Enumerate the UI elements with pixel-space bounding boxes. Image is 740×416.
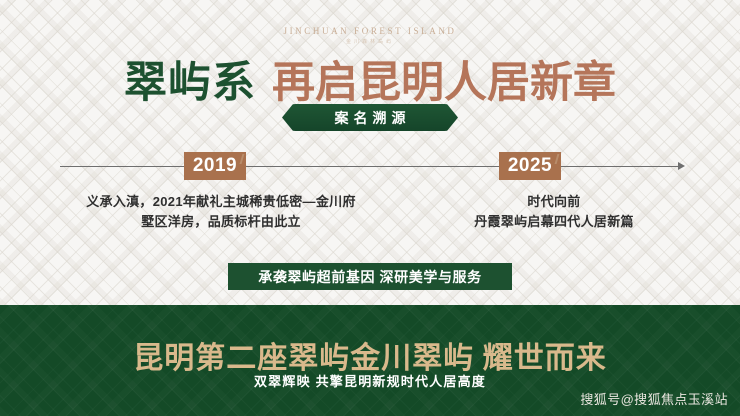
caption-line: 时代向前 xyxy=(404,192,704,212)
timeline-year-marker-2025: 2025 xyxy=(499,152,561,180)
highlight-bar-label: 承袭翠屿超前基因 深研美学与服务 xyxy=(258,267,482,287)
year-tick-icon xyxy=(240,154,245,164)
brand-logo: JINCHUAN FOREST ISLAND 金川森林岛屿 xyxy=(0,26,740,45)
brand-name-english: JINCHUAN FOREST ISLAND xyxy=(0,26,740,36)
section-ribbon: 案名溯源 xyxy=(282,104,458,131)
year-tick-icon xyxy=(555,154,560,164)
title-tagline: 再启昆明人居新章 xyxy=(272,60,616,107)
timeline-line-left xyxy=(60,166,184,167)
timeline-year-label: 2025 xyxy=(508,155,552,177)
timeline-year-marker-2019: 2019 xyxy=(184,152,246,180)
timeline-year-label: 2019 xyxy=(193,155,237,177)
timeline-caption-2019: 义承入滇，2021年献礼主城稀贵低密—金川府 墅区洋房，品质标杆由此立 xyxy=(36,192,406,232)
timeline-caption-2025: 时代向前 丹霞翠屿启幕四代人居新篇 xyxy=(404,192,704,232)
highlight-bar: 承袭翠屿超前基因 深研美学与服务 xyxy=(228,263,512,290)
timeline-line-middle xyxy=(246,166,501,167)
timeline: 2019 2025 xyxy=(0,152,740,182)
footer-subheadline: 双翠辉映 共擎昆明新规时代人居高度 xyxy=(0,371,740,390)
timeline-line-right xyxy=(561,166,681,167)
page-title: 翠屿系再启昆明人居新章 xyxy=(0,48,740,110)
poster-canvas: JINCHUAN FOREST ISLAND 金川森林岛屿 翠屿系再启昆明人居新… xyxy=(0,0,740,416)
brand-name-chinese: 金川森林岛屿 xyxy=(0,38,740,45)
footer-panel: 昆明第二座翠屿金川翠屿 耀世而来 双翠辉映 共擎昆明新规时代人居高度 搜狐号@搜… xyxy=(0,305,740,416)
section-ribbon-label: 案名溯源 xyxy=(330,108,411,128)
timeline-arrow-icon xyxy=(678,162,685,170)
title-series-name: 翠屿系 xyxy=(124,60,256,107)
caption-line: 义承入滇，2021年献礼主城稀贵低密—金川府 xyxy=(36,192,406,212)
watermark-credit: 搜狐号@搜狐焦点玉溪站 xyxy=(580,389,728,408)
caption-line: 墅区洋房，品质标杆由此立 xyxy=(36,212,406,232)
caption-line: 丹霞翠屿启幕四代人居新篇 xyxy=(404,212,704,232)
